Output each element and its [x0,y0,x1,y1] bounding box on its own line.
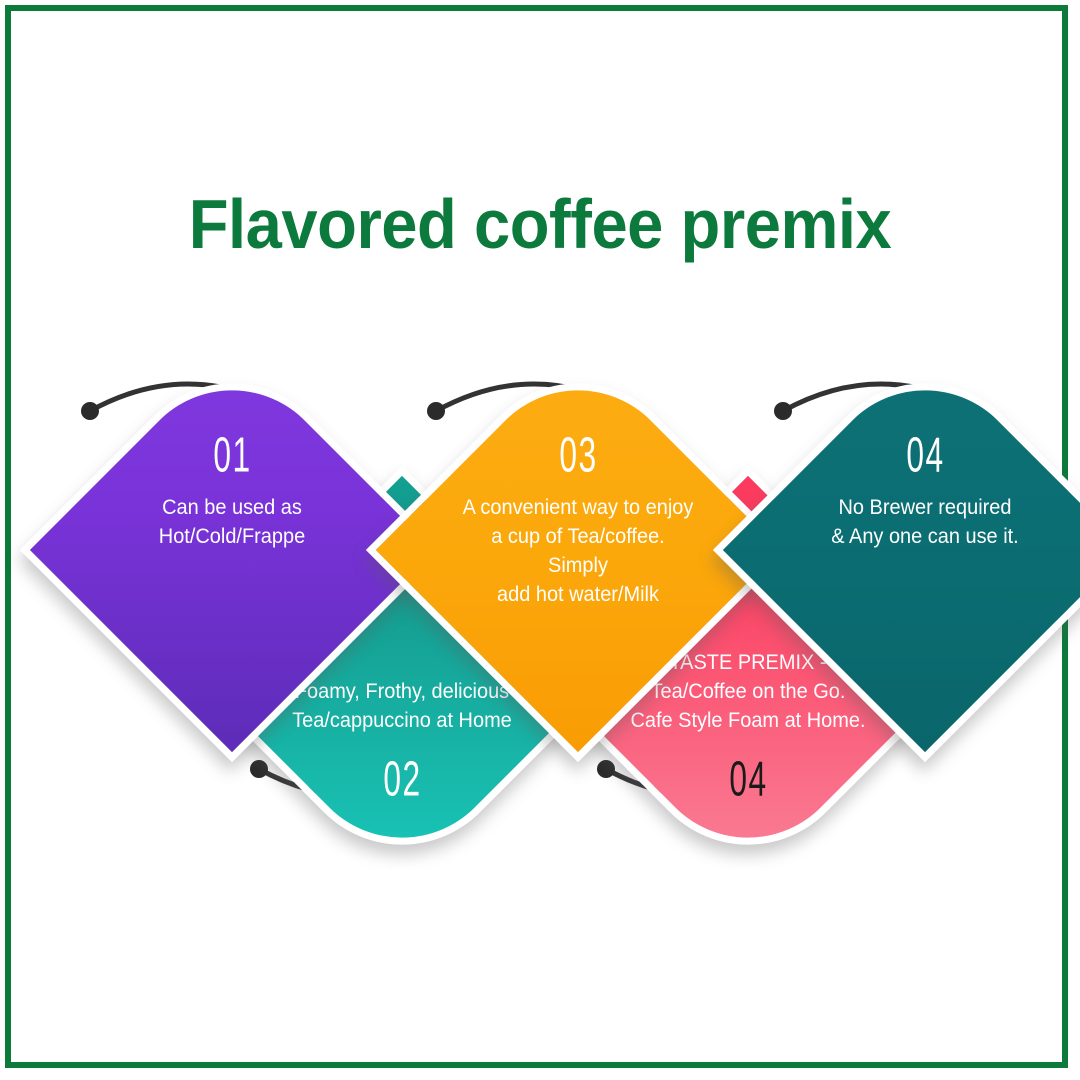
diagram-stage: Foamy, Frothy, delicious Tea/cappuccino … [0,0,1080,1080]
diagram-step-1[interactable]: 01 Can be used as Hot/Cold/Frappe [82,400,382,700]
diagram-step-3[interactable]: 03 A convenient way to enjoy a cup of Te… [428,400,728,700]
diagram-step-5[interactable]: 04 No Brewer required & Any one can use … [775,400,1075,700]
infographic-canvas: Flavored coffee premix [0,0,1080,1080]
